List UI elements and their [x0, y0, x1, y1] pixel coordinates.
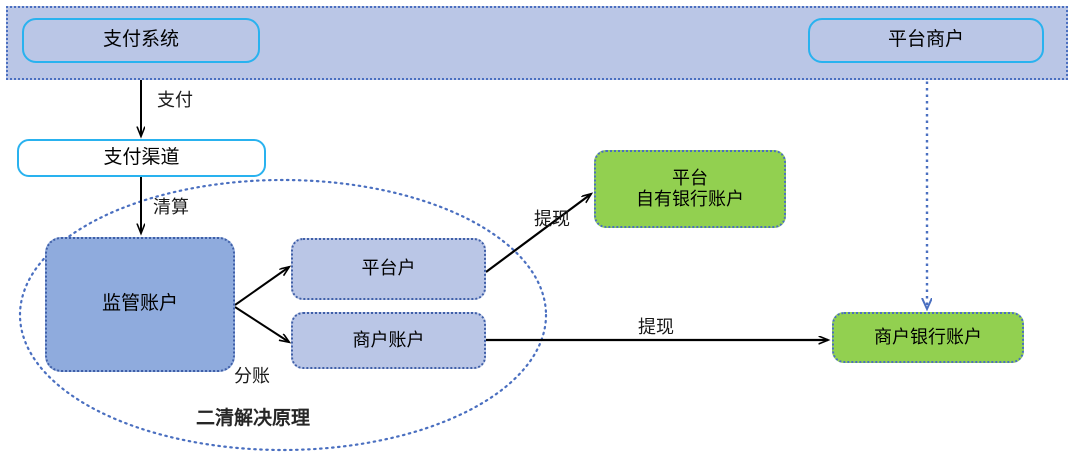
node-payment-system-label: 支付系统 — [103, 29, 179, 51]
node-platform-bank-account-line2: 自有银行账户 — [636, 189, 744, 210]
node-payment-channel[interactable]: 支付渠道 — [17, 139, 266, 177]
node-merchant-bank-account-label: 商户银行账户 — [874, 327, 982, 348]
node-merchant-bank-account[interactable]: 商户银行账户 — [832, 312, 1024, 363]
node-platform-account-label: 平台户 — [362, 258, 416, 279]
diagram-canvas: 支付系统 平台商户 支付渠道 监管账户 平台户 商户账户 平台 自有银行账户 商… — [0, 0, 1080, 453]
node-platform-bank-account[interactable]: 平台 自有银行账户 — [594, 150, 786, 228]
node-merchant-account[interactable]: 商户账户 — [291, 312, 486, 369]
edge-split-upper — [235, 267, 289, 305]
edge-label-split: 分账 — [234, 362, 270, 388]
group-caption-escrow: 二清解决原理 — [196, 403, 310, 430]
node-payment-system[interactable]: 支付系统 — [22, 18, 260, 63]
node-merchant-account-label: 商户账户 — [353, 330, 425, 351]
edge-label-withdraw-platform: 提现 — [534, 205, 570, 231]
node-platform-account[interactable]: 平台户 — [291, 238, 486, 300]
edge-split-lower — [235, 307, 289, 342]
node-platform-merchant-label: 平台商户 — [888, 29, 964, 51]
node-platform-merchant[interactable]: 平台商户 — [808, 18, 1044, 63]
node-escrow-account[interactable]: 监管账户 — [45, 237, 235, 372]
node-platform-bank-account-line1: 平台 — [672, 168, 708, 189]
edge-label-pay: 支付 — [157, 86, 193, 112]
node-payment-channel-label: 支付渠道 — [103, 147, 179, 169]
edge-label-settle: 清算 — [153, 193, 189, 219]
node-escrow-account-label: 监管账户 — [102, 293, 178, 315]
edge-label-withdraw-merchant: 提现 — [638, 313, 674, 339]
